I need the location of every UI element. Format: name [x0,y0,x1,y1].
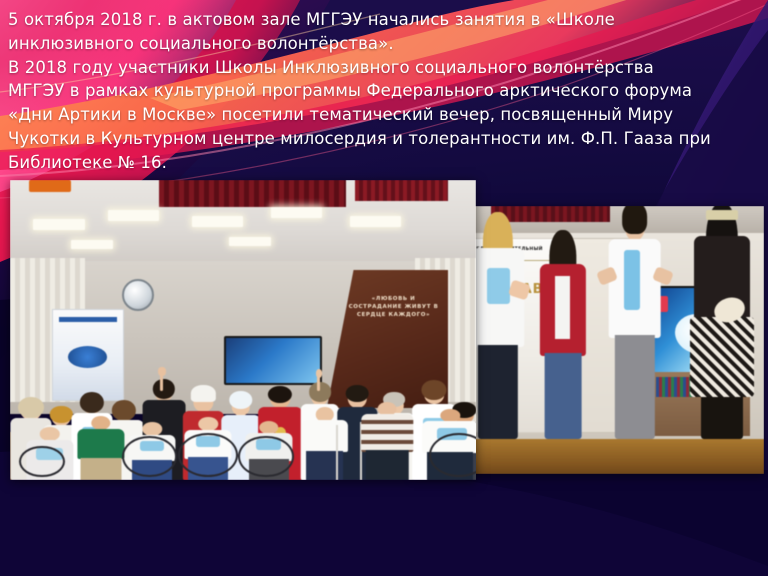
caption-line-2: инклюзивного социального волонтёрства». [8,32,748,56]
person-blonde-volunteer [470,214,526,439]
wall-slogan-text: «ЛЮБОВЬ И СОСТРАДАНИЕ ЖИВУТ В СЕРДЦЕ КАЖ… [346,295,441,319]
crowd-group [10,354,476,480]
caption-line-1: 5 октября 2018 г. в актовом зале МГГЭУ н… [8,8,748,32]
orange-panel [29,180,71,192]
wall-clock [122,279,154,311]
stage-curtain [159,180,345,207]
caption-line-5: «Дни Артики в Москве» посетили тематичес… [8,103,748,127]
ceiling-light-4 [271,207,322,218]
caption-line-3: В 2018 году участники Школы Инклюзивного… [8,56,748,80]
presentation-slide: 5 октября 2018 г. в актовом зале МГГЭУ н… [0,0,768,576]
person-green-sweater [75,414,126,480]
person-male-volunteer [607,209,663,439]
person-striped-sweater [360,402,416,480]
ceiling-light-5 [350,216,401,227]
person-with-crutches [299,407,350,480]
wheelchair-wheel [178,433,238,477]
caption-line-4: МГГЭУ в рамках культурной программы Феде… [8,79,748,103]
wheelchair-wheel [122,436,177,478]
group-photo-assembly-hall: «ЛЮБОВЬ И СОСТРАДАНИЕ ЖИВУТ В СЕРДЦЕ КАЖ… [10,180,476,480]
person-red-jacket [537,230,590,439]
stage-curtain-right [355,180,448,201]
ceiling-light-6 [71,240,113,249]
caption-line-7: Библиотеке № 16. [8,151,748,175]
crutch [336,425,338,480]
person-chukchi-performer [687,206,757,439]
caption-line-6: Чукотки в Культурном центре милосердия и… [8,127,748,151]
ceiling-light-1 [33,219,84,230]
ceiling-light-7 [229,237,271,246]
ceiling-light-3 [192,216,243,227]
wheelchair-wheel [238,436,293,478]
ceiling-light-2 [108,210,159,221]
slide-caption-text: 5 октября 2018 г. в актовом зале МГГЭУ н… [8,8,748,175]
photo-left-scene: «ЛЮБОВЬ И СОСТРАДАНИЕ ЖИВУТ В СЕРДЦЕ КАЖ… [10,180,476,480]
